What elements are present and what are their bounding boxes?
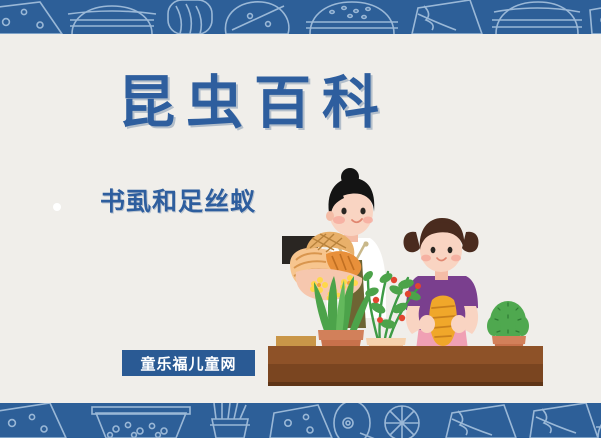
brand-watermark-button[interactable]: 童乐福儿童网: [122, 350, 255, 376]
brand-label: 童乐福儿童网: [140, 353, 236, 374]
two-children-with-plants-illustration: [268, 168, 543, 393]
bottom-pattern-band: [0, 403, 601, 438]
girl-with-pigtails: [404, 218, 479, 350]
page-subtitle: 书虱和足丝蚁: [100, 188, 256, 216]
top-pattern-band: [0, 0, 601, 34]
bullet-dot-icon: [53, 203, 61, 211]
page-title: 昆虫百科: [118, 72, 390, 134]
food-line-art-pattern-icon: [0, 403, 601, 438]
food-line-art-pattern-icon: [0, 0, 601, 34]
slide-canvas: 昆虫百科 书虱和足丝蚁 童乐福儿童网: [0, 0, 601, 438]
